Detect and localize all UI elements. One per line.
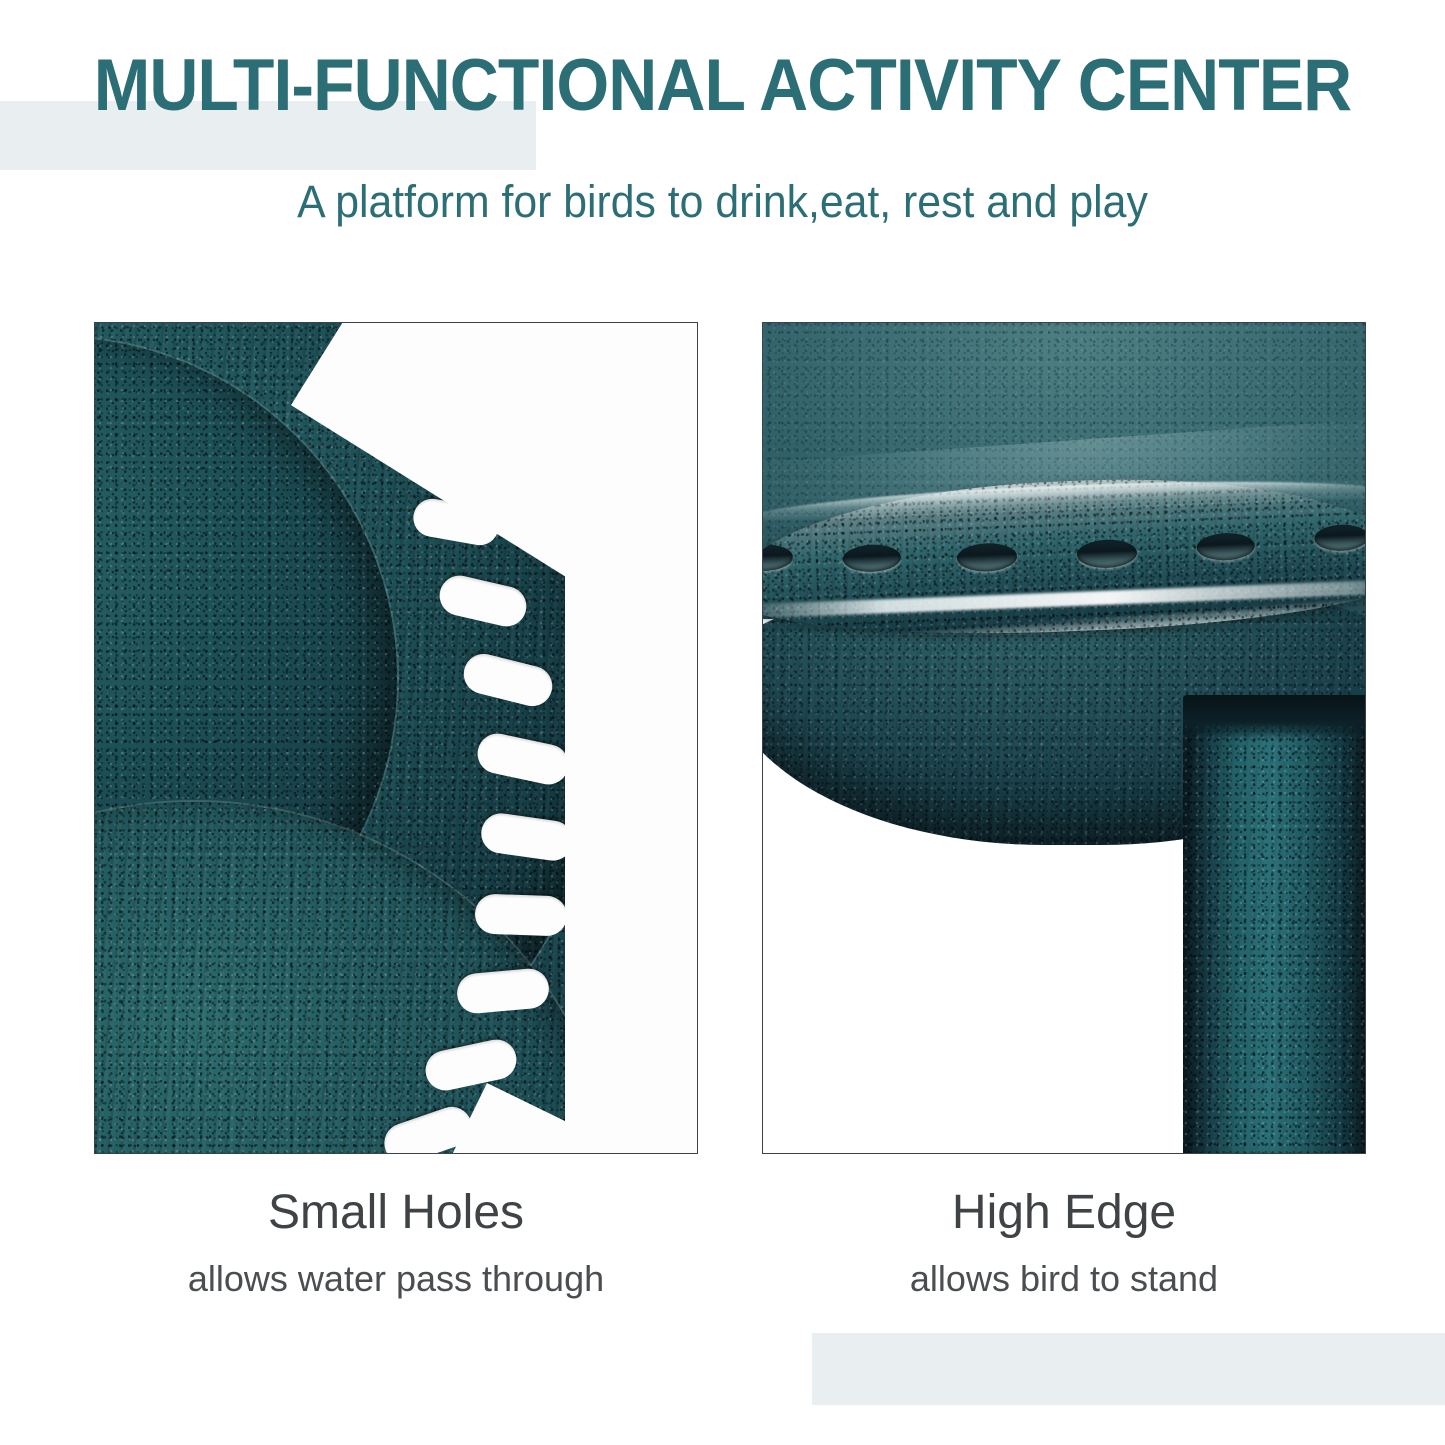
caption-subtitle: allows bird to stand [762,1261,1366,1297]
caption-title: Small Holes [94,1189,698,1237]
caption-high-edge: High Edge allows bird to stand [762,1189,1366,1297]
pedestal-shadow-cap [1183,695,1366,741]
metal-streak-texture [1183,695,1366,1154]
rim-hole [842,544,901,573]
pedestal-column [1183,695,1366,1154]
drainage-slot [474,893,567,936]
feature-image-high-edge [762,322,1366,1154]
caption-subtitle: allows water pass through [94,1261,698,1297]
product-feature-page: MULTI-FUNCTIONAL ACTIVITY CENTER A platf… [0,0,1445,1445]
decorative-band-bottom-right [812,1333,1445,1405]
rim-gloss-highlight [762,579,1366,619]
feature-image-small-holes [94,322,698,1154]
caption-title: High Edge [762,1189,1366,1237]
rim-hole [1314,524,1366,552]
page-title: MULTI-FUNCTIONAL ACTIVITY CENTER [51,48,1395,125]
rim-hole [1196,532,1255,561]
rim-hole [956,542,1017,572]
rim-hole [1076,539,1137,569]
caption-small-holes: Small Holes allows water pass through [94,1189,698,1297]
page-subtitle: A platform for birds to drink,eat, rest … [36,176,1409,228]
birdbath-side-photo [763,323,1365,1153]
rim-hole [762,544,793,572]
birdbath-rim-photo [95,323,697,1153]
photo-background [565,323,698,1154]
metal-speckle-texture [1183,695,1366,1154]
